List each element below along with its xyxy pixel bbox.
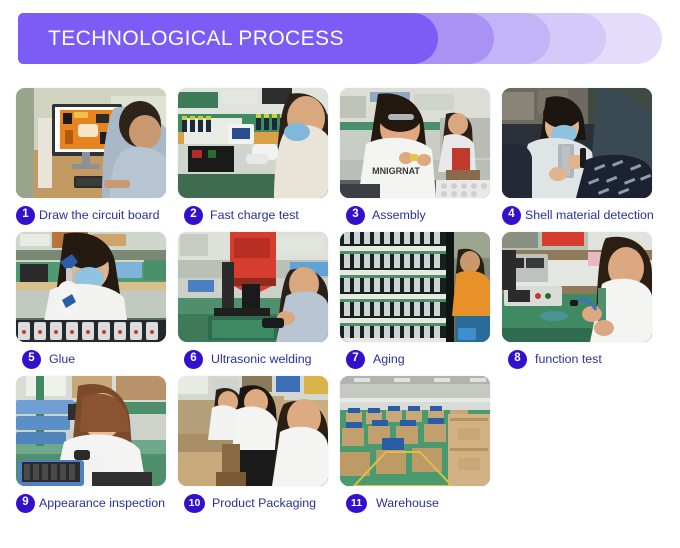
- svg-text:MNIGRNAT: MNIGRNAT: [372, 166, 420, 176]
- step-photo-7: [340, 232, 490, 342]
- process-step-8[interactable]: 8 function test: [502, 232, 664, 376]
- process-row-1: 1 Draw the circuit board: [16, 88, 664, 232]
- process-row-3: 9 Appearance inspection: [16, 376, 664, 520]
- page-header-banner: TECHNOLOGICAL PROCESS: [18, 13, 662, 64]
- step-label-8: function test: [535, 353, 602, 365]
- step-badge-4: 4: [502, 206, 521, 225]
- step-caption-8: 8 function test: [502, 342, 664, 376]
- process-step-2[interactable]: 2 Fast charge test: [178, 88, 340, 232]
- step-caption-6: 6 Ultrasonic welding: [178, 342, 340, 376]
- step-caption-2: 2 Fast charge test: [178, 198, 340, 232]
- step-caption-5: 5 Glue: [16, 342, 178, 376]
- step-badge-11: 11: [346, 494, 367, 513]
- step-caption-9: 9 Appearance inspection: [16, 486, 178, 520]
- process-step-7[interactable]: 7 Aging: [340, 232, 502, 376]
- step-photo-8: [502, 232, 652, 342]
- process-step-10[interactable]: 10 Product Packaging: [178, 376, 340, 520]
- step-label-10: Product Packaging: [212, 497, 316, 509]
- step-badge-8: 8: [508, 350, 527, 369]
- process-step-3[interactable]: MNIGRNAT: [340, 88, 502, 232]
- page-title: TECHNOLOGICAL PROCESS: [48, 13, 344, 64]
- step-label-11: Warehouse: [376, 497, 439, 509]
- step-caption-4: 4 Shell material detection: [502, 198, 664, 232]
- step-badge-9: 9: [16, 494, 35, 513]
- process-step-6[interactable]: 6 Ultrasonic welding: [178, 232, 340, 376]
- step-badge-7: 7: [346, 350, 365, 369]
- process-step-11[interactable]: 11 Warehouse: [340, 376, 502, 520]
- process-grid: 1 Draw the circuit board: [16, 88, 664, 520]
- step-photo-4: [502, 88, 652, 198]
- step-photo-5: [16, 232, 166, 342]
- step-caption-1: 1 Draw the circuit board: [16, 198, 178, 232]
- process-step-1[interactable]: 1 Draw the circuit board: [16, 88, 178, 232]
- process-row-2: 5 Glue: [16, 232, 664, 376]
- step-caption-10: 10 Product Packaging: [178, 486, 340, 520]
- step-badge-2: 2: [184, 206, 203, 225]
- step-caption-11: 11 Warehouse: [340, 486, 502, 520]
- step-photo-2: [178, 88, 328, 198]
- process-step-4[interactable]: 4 Shell material detection: [502, 88, 664, 232]
- step-label-1: Draw the circuit board: [39, 209, 160, 221]
- step-photo-1: [16, 88, 166, 198]
- step-label-7: Aging: [373, 353, 405, 365]
- step-caption-3: 3 Assembly: [340, 198, 502, 232]
- step-label-4: Shell material detection: [525, 209, 654, 221]
- step-photo-3: MNIGRNAT: [340, 88, 490, 198]
- step-badge-5: 5: [22, 350, 41, 369]
- step-badge-3: 3: [346, 206, 365, 225]
- step-photo-11: [340, 376, 490, 486]
- process-step-5[interactable]: 5 Glue: [16, 232, 178, 376]
- step-label-3: Assembly: [372, 209, 426, 221]
- step-label-6: Ultrasonic welding: [211, 353, 312, 365]
- step-label-5: Glue: [49, 353, 75, 365]
- step-photo-9: [16, 376, 166, 486]
- step-badge-10: 10: [184, 494, 205, 513]
- step-badge-6: 6: [184, 350, 203, 369]
- step-label-9: Appearance inspection: [39, 497, 165, 509]
- step-photo-10: [178, 376, 328, 486]
- process-step-9[interactable]: 9 Appearance inspection: [16, 376, 178, 520]
- step-badge-1: 1: [16, 206, 35, 225]
- step-label-2: Fast charge test: [210, 209, 299, 221]
- step-caption-7: 7 Aging: [340, 342, 502, 376]
- step-photo-6: [178, 232, 328, 342]
